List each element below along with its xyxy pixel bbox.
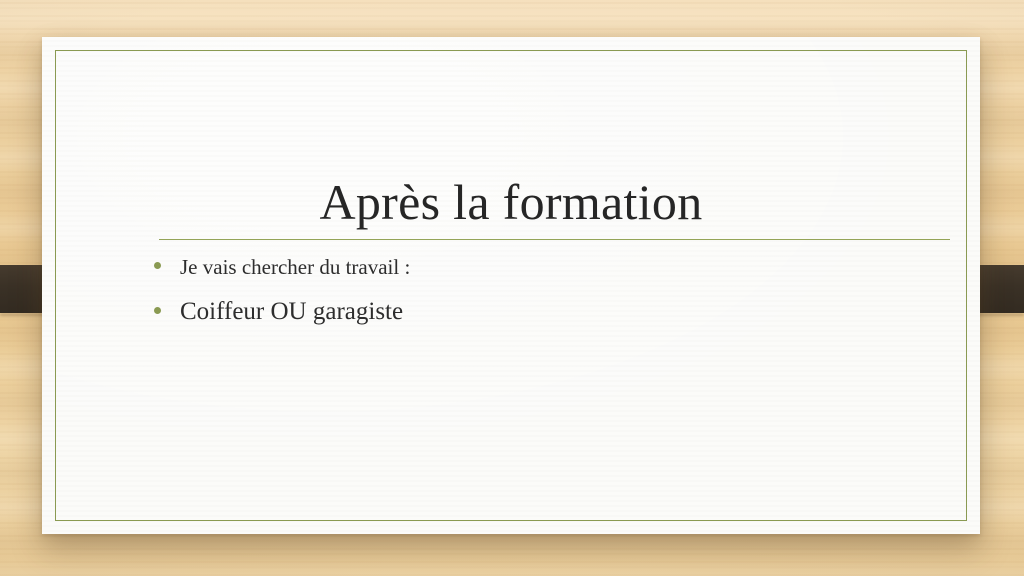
bullet-dot-icon xyxy=(154,250,180,275)
slide-root: Après la formation Je vais chercher du t… xyxy=(0,0,1024,576)
bullet-dot-icon xyxy=(154,293,180,321)
slide-card: Après la formation Je vais chercher du t… xyxy=(42,37,980,534)
list-item-label: Je vais chercher du travail : xyxy=(180,255,910,280)
bullet-list: Je vais chercher du travail : Coiffeur O… xyxy=(154,255,910,326)
list-item: Coiffeur OU garagiste xyxy=(154,298,910,326)
list-item: Je vais chercher du travail : xyxy=(154,255,910,280)
list-item-label: Coiffeur OU garagiste xyxy=(180,298,910,326)
title-divider-line xyxy=(159,239,950,240)
slide-title: Après la formation xyxy=(102,175,920,230)
